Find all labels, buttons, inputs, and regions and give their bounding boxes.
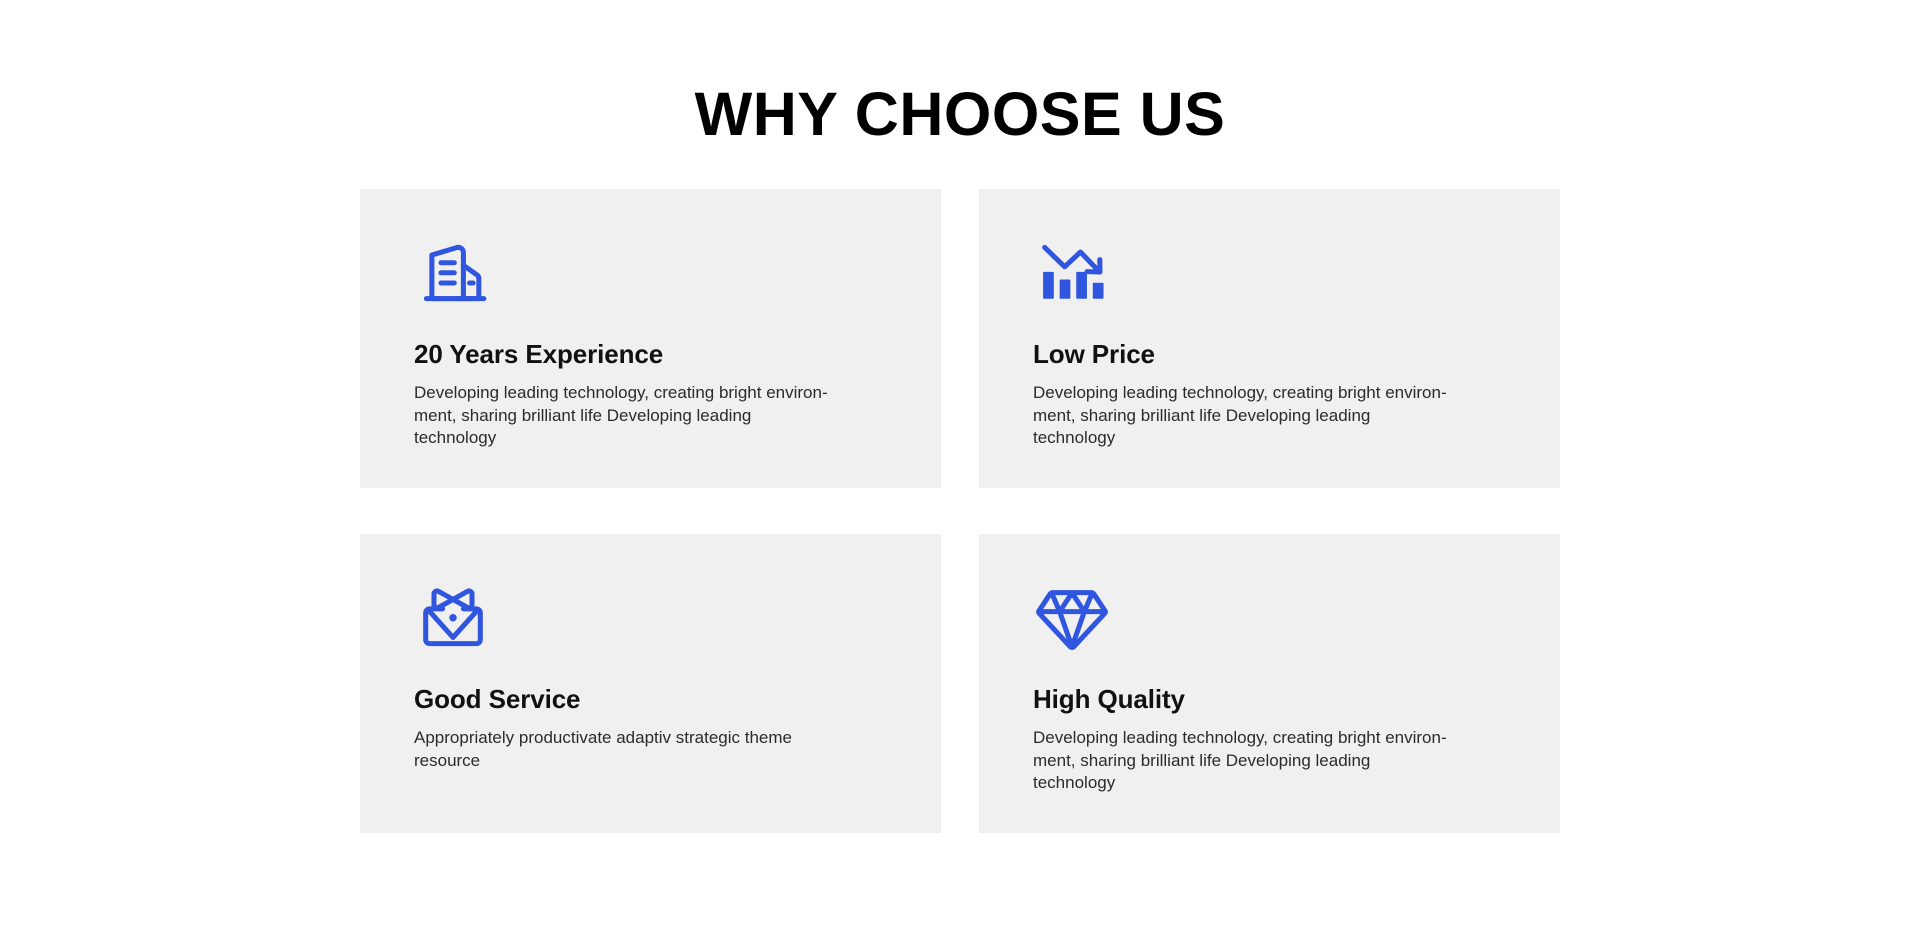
diamond-icon	[1033, 577, 1111, 655]
office-building-icon	[414, 232, 492, 310]
feature-card-20-years-experience[interactable]: 20 Years Experience Developing leading t…	[360, 189, 941, 488]
feature-card-title: Low Price	[1033, 338, 1506, 370]
feature-card-title: High Quality	[1033, 683, 1506, 715]
tuxedo-bowtie-icon	[414, 577, 492, 655]
declining-bar-chart-icon	[1033, 232, 1111, 310]
feature-card-low-price[interactable]: Low Price Developing leading technology,…	[979, 189, 1560, 488]
feature-card-title: Good Service	[414, 683, 887, 715]
feature-card-description: Developing leading technology, creating …	[414, 382, 832, 450]
feature-card-description: Developing leading technology, creating …	[1033, 382, 1451, 450]
feature-card-high-quality[interactable]: High Quality Developing leading technolo…	[979, 534, 1560, 833]
feature-cards-grid: 20 Years Experience Developing leading t…	[360, 189, 1560, 833]
feature-card-title: 20 Years Experience	[414, 338, 887, 370]
why-choose-us-section: WHY CHOOSE US 20 Years Experience Develo…	[0, 0, 1920, 930]
feature-card-description: Appropriately productivate adaptiv strat…	[414, 727, 832, 772]
page-title: WHY CHOOSE US	[0, 78, 1920, 150]
feature-card-good-service[interactable]: Good Service Appropriately productivate …	[360, 534, 941, 833]
feature-card-description: Developing leading technology, creating …	[1033, 727, 1451, 795]
